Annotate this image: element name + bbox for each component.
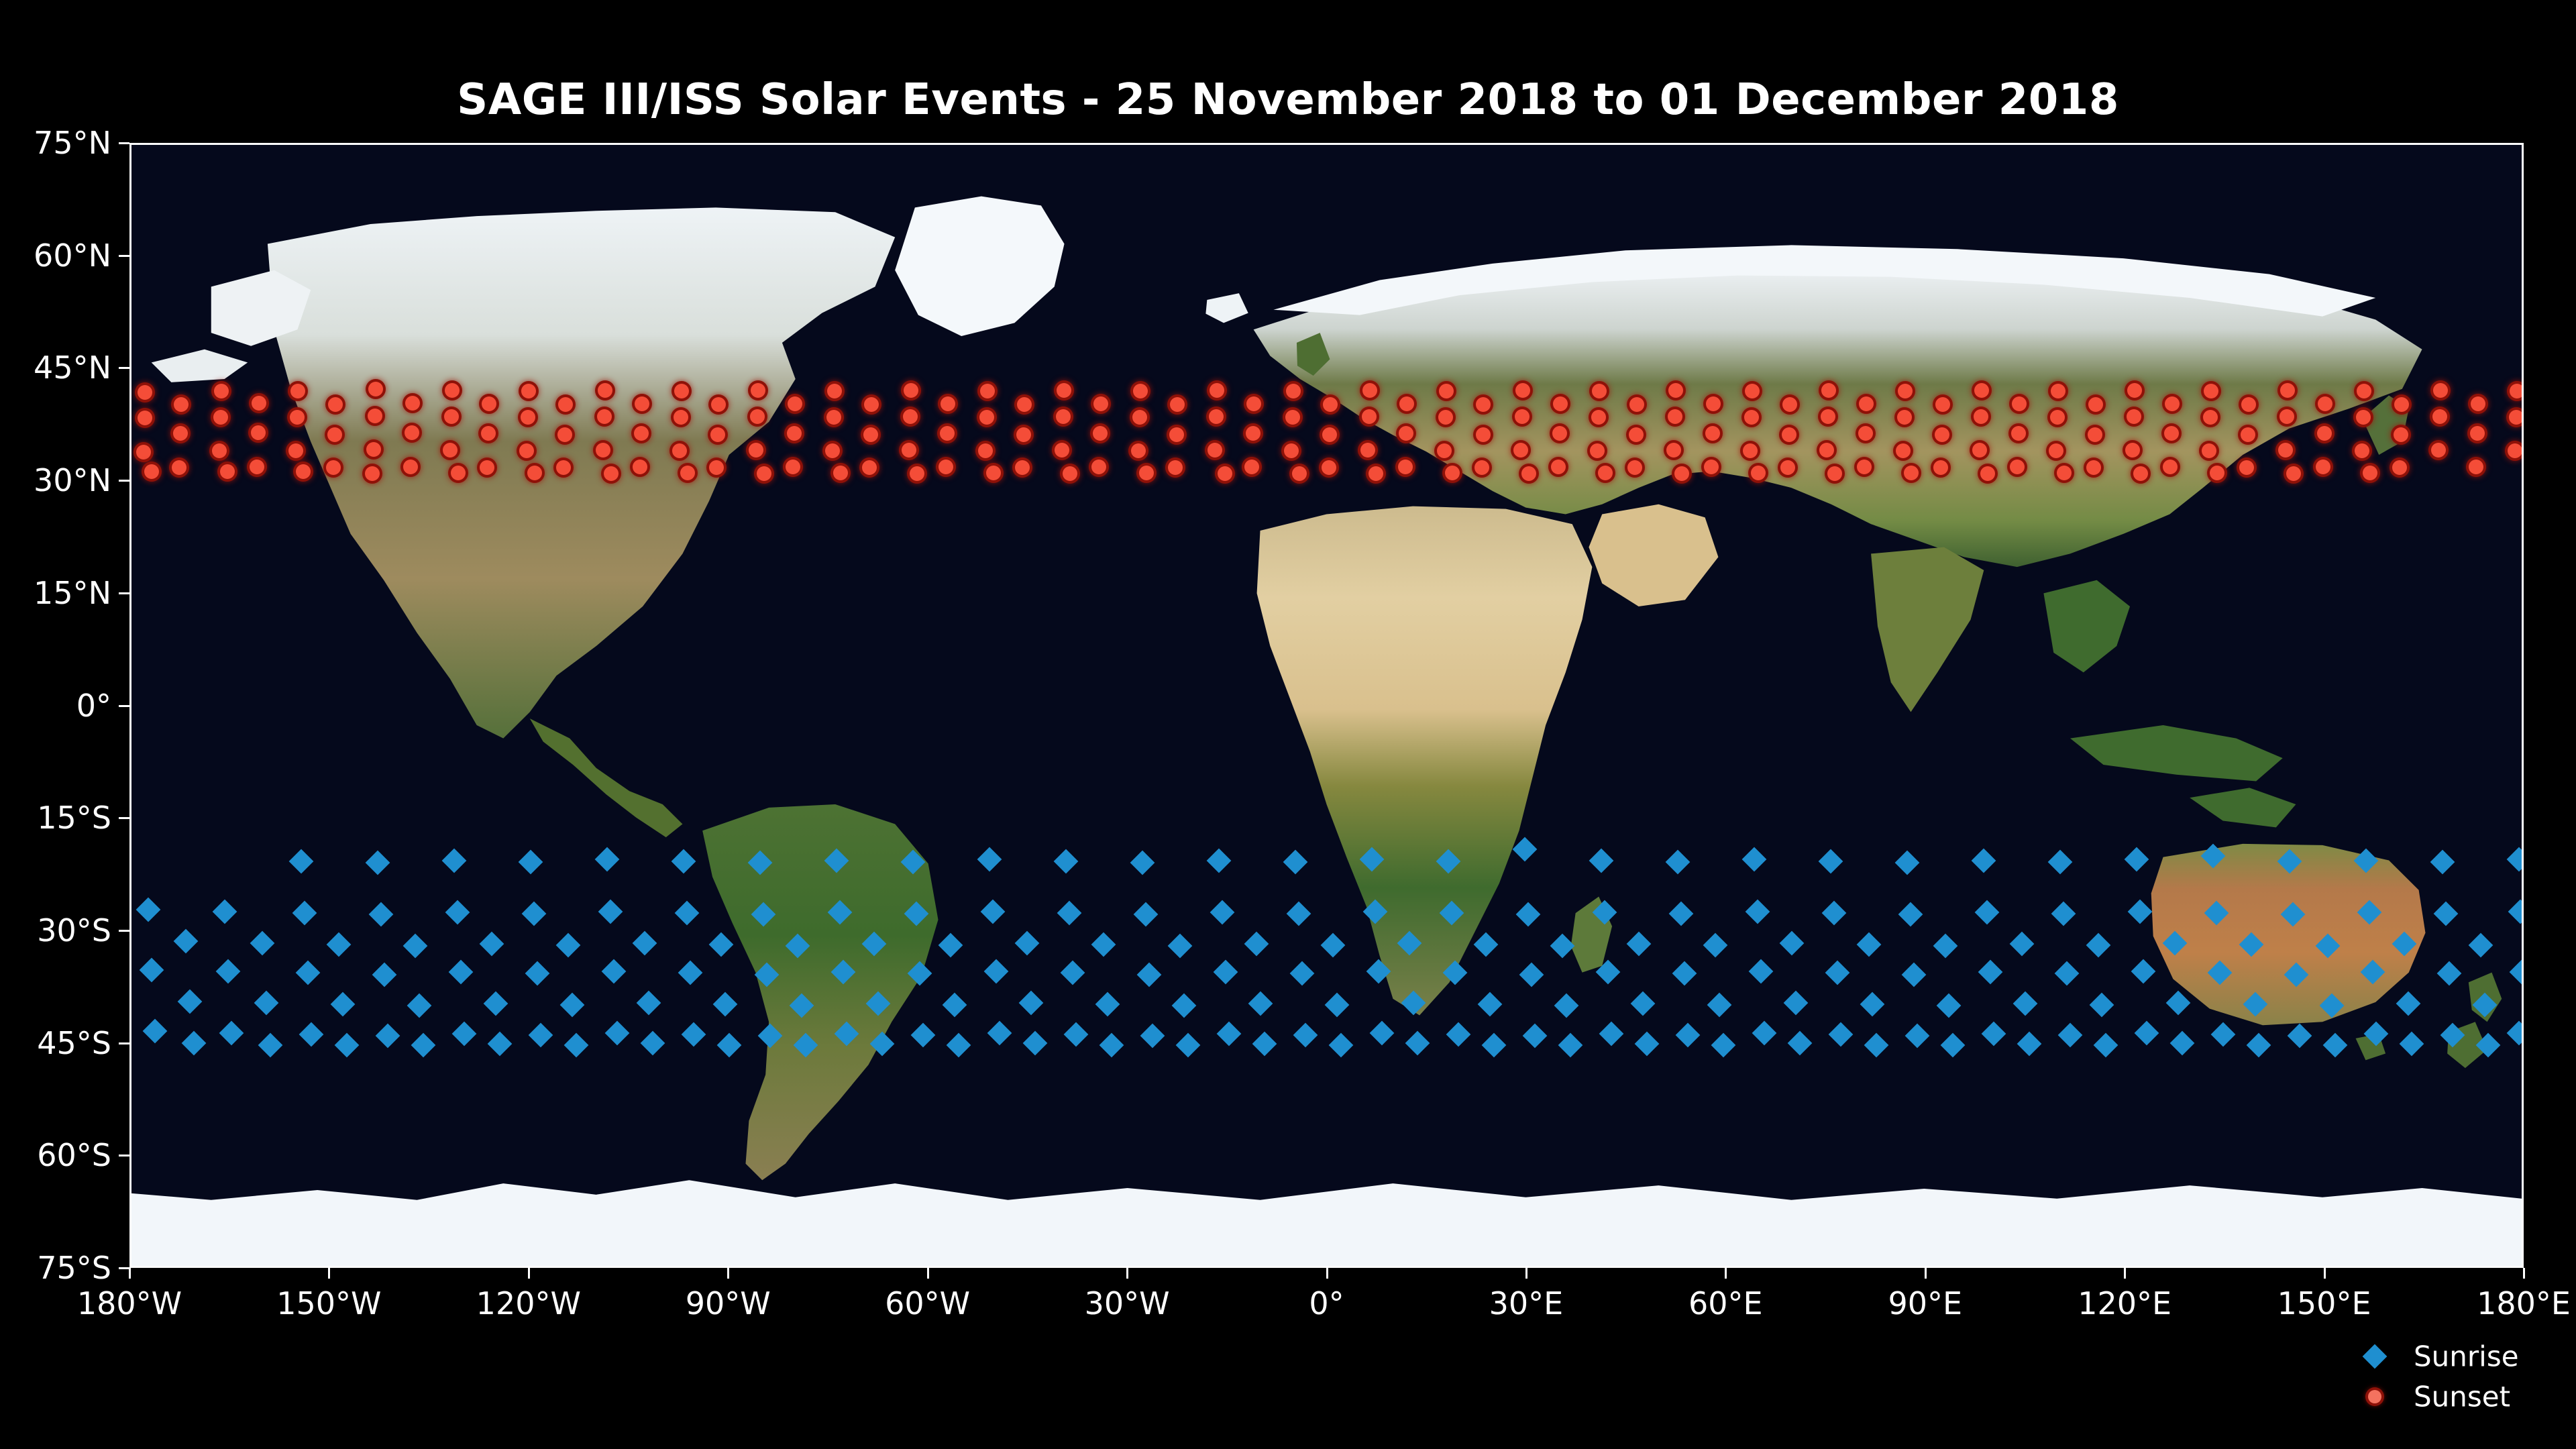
y-tick-mark [119,480,129,482]
y-tick-label: 15°N [34,575,111,611]
y-tick-label: 75°N [34,125,111,161]
sunset-marker-icon [2368,1390,2381,1403]
x-tick-mark [2523,1268,2525,1279]
x-tick-label: 180°W [77,1285,182,1322]
legend: SunriseSunset [2334,1338,2563,1426]
legend-label: Sunset [2414,1381,2510,1413]
y-tick-mark [119,255,129,257]
x-tick-mark [2124,1268,2126,1279]
x-tick-label: 150°E [2277,1285,2371,1322]
x-tick-mark [328,1268,330,1279]
y-tick-mark [119,367,129,369]
y-tick-mark [119,817,129,819]
x-tick-mark [1525,1268,1527,1279]
x-tick-mark [1925,1268,1927,1279]
world-basemap [131,145,2522,1266]
x-tick-label: 90°E [1888,1285,1962,1322]
y-tick-label: 45°S [37,1025,111,1061]
x-tick-label: 150°W [276,1285,381,1322]
x-tick-mark [1326,1268,1328,1279]
x-tick-mark [1725,1268,1727,1279]
map-plot-area [129,143,2524,1268]
x-tick-mark [927,1268,929,1279]
y-tick-label: 60°S [37,1137,111,1173]
legend-entry-sunrise: Sunrise [2334,1338,2563,1375]
x-tick-label: 120°W [476,1285,581,1322]
y-tick-label: 60°N [34,237,111,274]
solar-events-map-figure: SAGE III/ISS Solar Events - 25 November … [0,0,2576,1449]
y-tick-mark [119,930,129,932]
y-tick-label: 15°S [37,800,111,836]
x-tick-label: 0° [1309,1285,1344,1322]
x-tick-label: 180°E [2477,1285,2571,1322]
x-tick-mark [2324,1268,2326,1279]
y-tick-label: 75°S [37,1250,111,1286]
y-tick-mark [119,1042,129,1044]
y-tick-mark [119,592,129,594]
x-tick-mark [1126,1268,1128,1279]
y-tick-mark [119,1155,129,1157]
sunrise-marker-icon [2363,1344,2387,1369]
x-tick-mark [129,1268,131,1279]
antarctica [131,1180,2522,1266]
y-tick-label: 0° [76,688,111,724]
legend-label: Sunrise [2414,1340,2519,1373]
y-tick-label: 45°N [34,350,111,386]
x-tick-label: 30°W [1085,1285,1170,1322]
x-tick-label: 30°E [1489,1285,1564,1322]
x-tick-label: 60°E [1688,1285,1763,1322]
x-tick-label: 90°W [686,1285,771,1322]
x-tick-mark [528,1268,530,1279]
y-tick-mark [119,142,129,144]
y-tick-mark [119,705,129,707]
legend-entry-sunset: Sunset [2334,1379,2563,1415]
y-tick-mark [119,1267,129,1269]
y-tick-label: 30°N [34,462,111,498]
y-tick-label: 30°S [37,912,111,949]
page-title: SAGE III/ISS Solar Events - 25 November … [0,75,2576,125]
x-tick-label: 120°E [2078,1285,2171,1322]
x-tick-label: 60°W [885,1285,970,1322]
x-tick-mark [727,1268,729,1279]
